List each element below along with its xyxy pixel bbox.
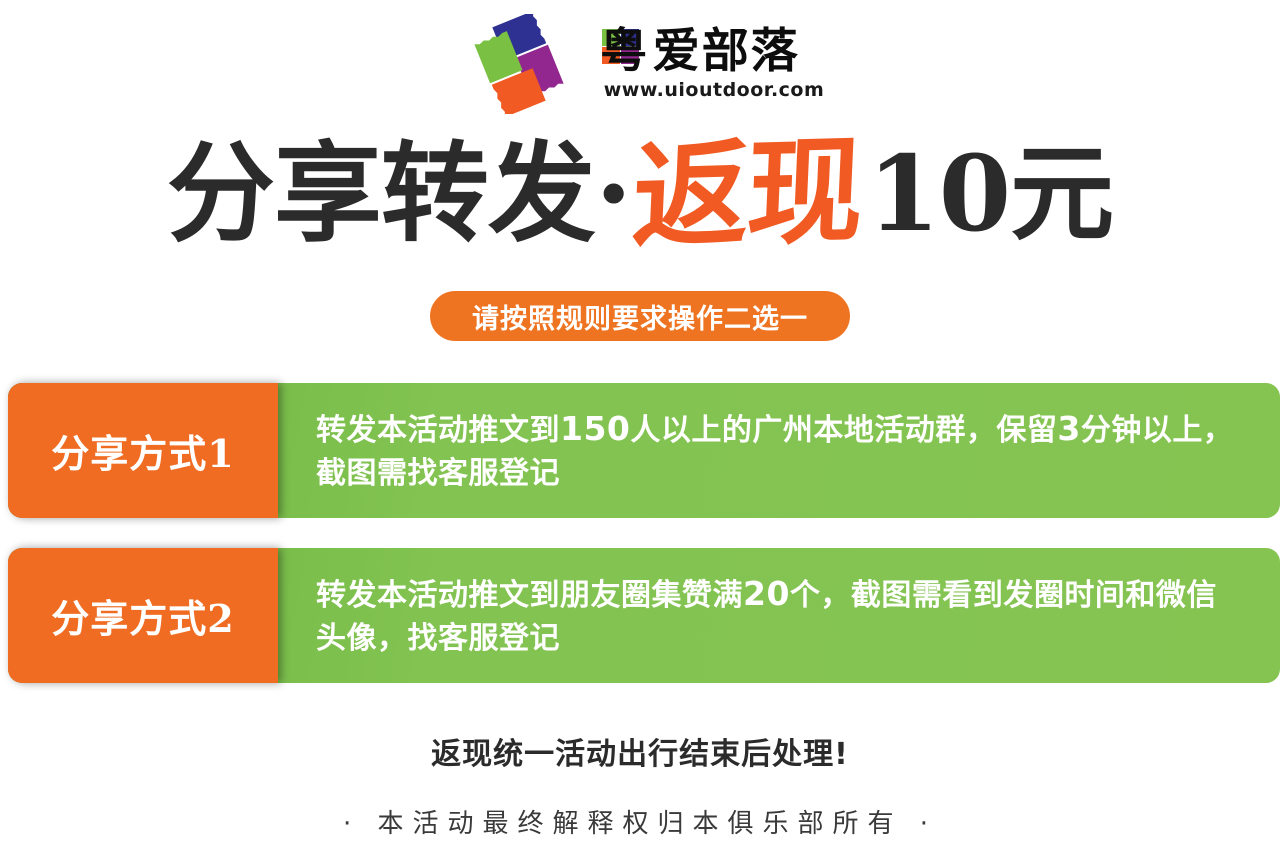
method-description: 转发本活动推文到150人以上的广州本地活动群，保留3分钟以上，截图需找客服登记 [316,406,1246,495]
method-text-number: 150 [560,409,630,448]
pinwheel-logo-icon [456,14,582,114]
headline-amount: 10元 [867,142,1113,246]
header-logo-lockup: 粤 爱部落 www.uioutdoor.com [0,10,1280,118]
headline-part-dark: 分享转发· [167,140,632,248]
logo-lockup: 粤 爱部落 www.uioutdoor.com [456,14,825,114]
method-text-pre: 转发本活动推文到朋友圈集赞满 [316,578,743,613]
brand-first-char-glyph: 粤 [600,28,650,76]
method-text-number: 20 [743,574,790,613]
method-row: 分享方式1 转发本活动推文到150人以上的广州本地活动群，保留3分钟以上，截图需… [8,383,1280,518]
method-label-text: 分享方式1 [51,423,234,478]
footer-disclaimer: · 本活动最终解释权归本俱乐部所有 · [0,803,1280,840]
brand-first-char: 粤 [600,26,650,78]
headline-part-orange: 返现 [631,133,864,255]
instruction-pill-wrap: 请按照规则要求操作二选一 [0,291,1280,341]
instruction-pill: 请按照规则要求操作二选一 [430,291,850,341]
page-title: 分享转发· 返现 10元 [0,124,1280,264]
brand-block: 粤 爱部落 www.uioutdoor.com [600,28,825,101]
method-description: 转发本活动推文到朋友圈集赞满20个，截图需看到发圈时间和微信头像，找客服登记 [316,571,1246,660]
method-body: 转发本活动推文到朋友圈集赞满20个，截图需看到发圈时间和微信头像，找客服登记 [278,548,1280,683]
brand-name: 粤 爱部落 [600,28,800,76]
method-body: 转发本活动推文到150人以上的广州本地活动群，保留3分钟以上，截图需找客服登记 [278,383,1280,518]
method-text-post: 个，截图需看到发 [790,578,1034,613]
method-text-number-2: 3 [1057,409,1080,448]
method-label-text: 分享方式2 [51,588,234,643]
method-label-badge: 分享方式1 [8,383,278,518]
method-row: 分享方式2 转发本活动推文到朋友圈集赞满20个，截图需看到发圈时间和微信头像，找… [8,548,1280,683]
brand-website: www.uioutdoor.com [600,79,825,101]
method-text-post: 人以上的广州本地活动群，保留 [630,413,1057,448]
brand-name-rest: 爱部落 [653,28,800,75]
method-label-badge: 分享方式2 [8,548,278,683]
method-text-pre: 转发本活动推文到 [316,413,560,448]
footer-note: 返现统一活动出行结束后处理! [0,729,1280,773]
